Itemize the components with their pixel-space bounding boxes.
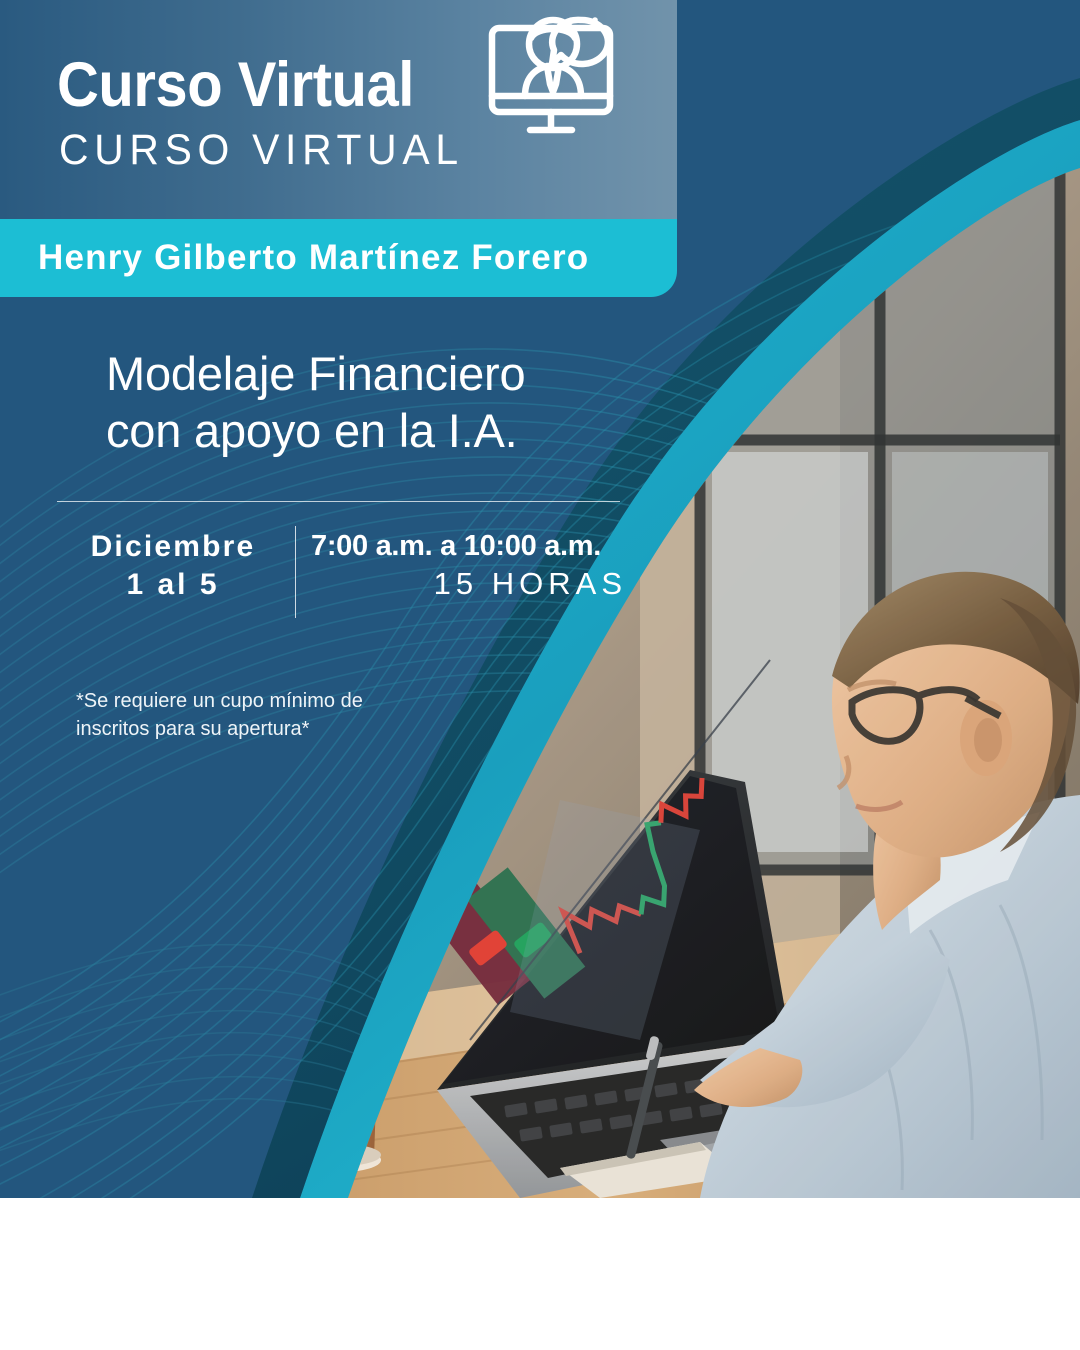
speaker-band: Henry Gilberto Martínez Forero xyxy=(0,219,677,297)
schedule-date: Diciembre 1 al 5 xyxy=(57,528,289,604)
schedule-days: 1 al 5 xyxy=(57,566,289,604)
minimum-enrollment-note: *Se requiere un cupo mínimo de inscritos… xyxy=(76,688,436,743)
course-type-title-light: CURSO VIRTUAL xyxy=(59,129,464,172)
speaker-name: Henry Gilberto Martínez Forero xyxy=(38,219,589,297)
course-type-title-bold: Curso Virtual xyxy=(57,54,414,117)
schedule-month: Diciembre xyxy=(57,528,289,566)
schedule-vertical-divider xyxy=(295,526,296,618)
webinar-monitor-person-icon xyxy=(475,0,640,152)
schedule-block: Diciembre 1 al 5 7:00 a.m. a 10:00 a.m. … xyxy=(57,528,637,618)
schedule-time-range: 7:00 a.m. a 10:00 a.m. xyxy=(311,528,641,565)
schedule-time: 7:00 a.m. a 10:00 a.m. 15 HORAS xyxy=(311,528,641,604)
section-divider xyxy=(57,501,620,502)
header-banner: Curso Virtual CURSO VIRTUAL xyxy=(0,0,677,219)
schedule-duration: 15 HORAS xyxy=(311,565,641,604)
footer-bar: Andesco xyxy=(0,1198,1080,1350)
course-headline: Modelaje Financiero con apoyo en la I.A. xyxy=(106,345,525,460)
promotional-poster: Curso Virtual CURSO VIRTUAL xyxy=(0,0,1080,1350)
